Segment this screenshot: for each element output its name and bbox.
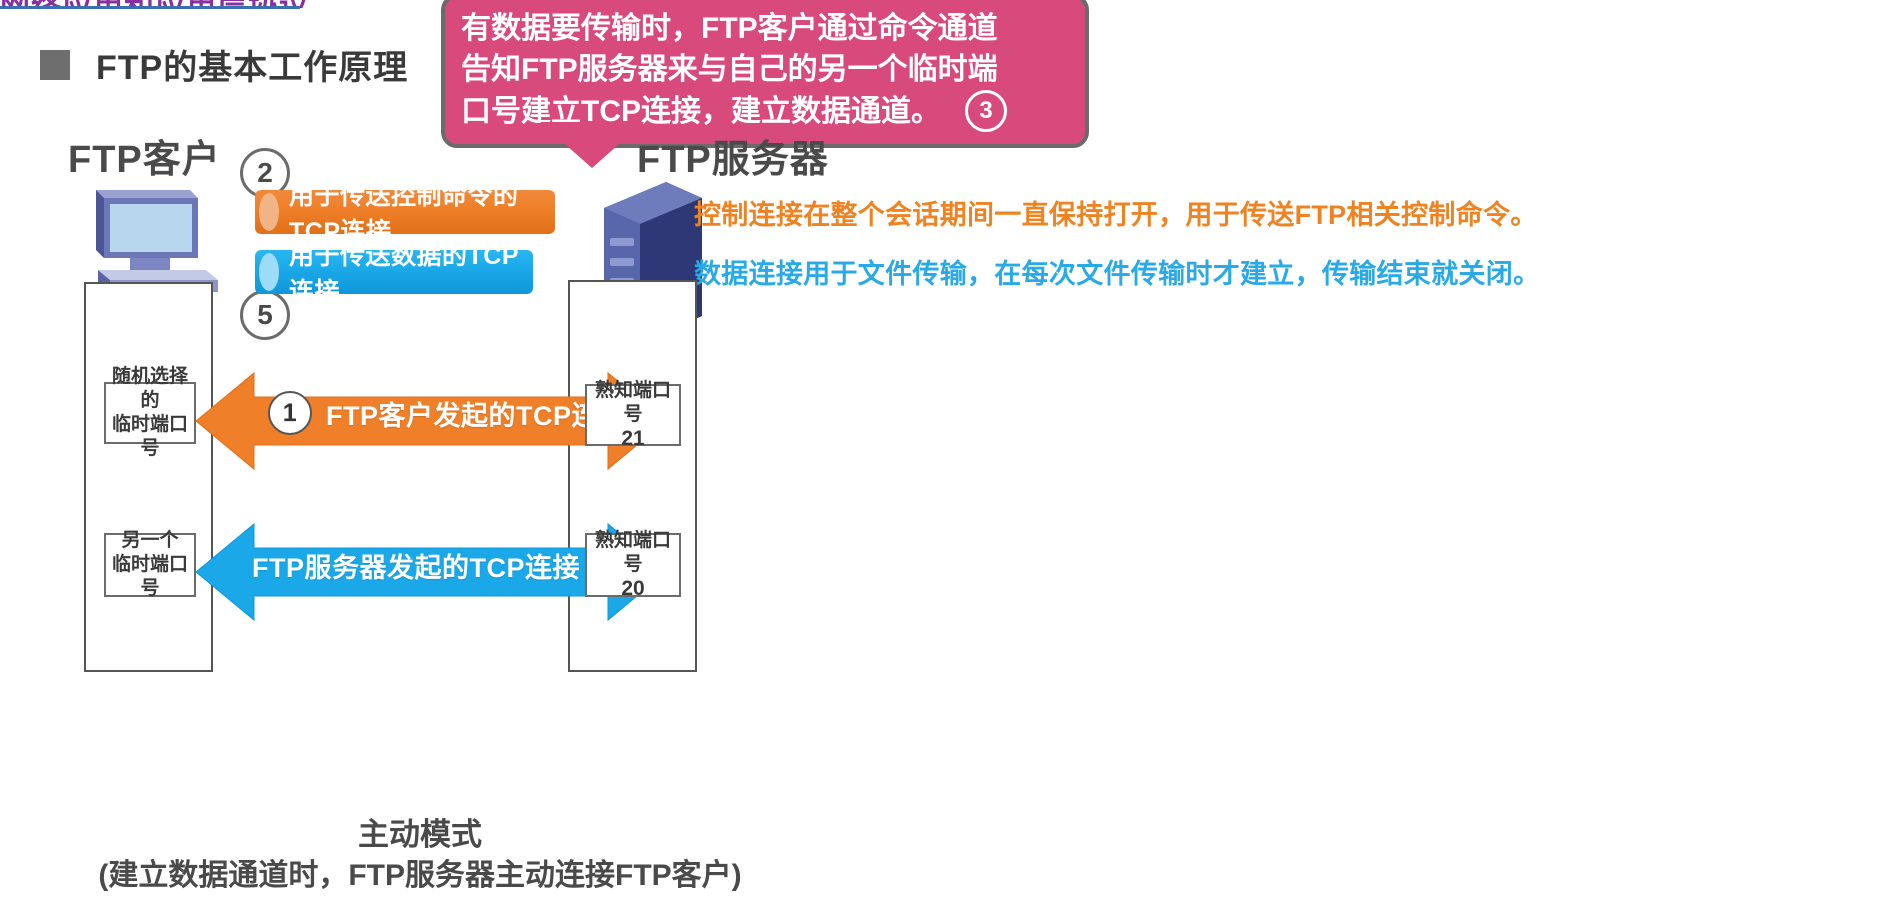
callout-line-1: 有数据要传输时，FTP客户通过命令通道 (461, 8, 1069, 49)
callout-step-badge: 3 (965, 90, 1007, 132)
client-title: FTP客户 (68, 128, 221, 183)
callout-line-2: 告知FTP服务器来与自己的另一个临时端 (461, 49, 1069, 90)
section-heading: FTP的基本工作原理 (40, 40, 408, 89)
top-rule-divider (0, 6, 300, 9)
server-wellknown-port-label: 熟知端口号 (587, 379, 679, 427)
mode-caption: 主动模式 (建立数据通道时，FTP服务器主动连接FTP客户) (0, 815, 840, 897)
mode-caption-subtitle: (建立数据通道时，FTP服务器主动连接FTP客户) (0, 855, 840, 897)
client-ephemeral-port-2-line-2: 临时端口号 (106, 553, 194, 601)
callout-bubble: 有数据要传输时，FTP客户通过命令通道 告知FTP服务器来与自己的另一个临时端 … (441, 0, 1089, 148)
control-connection-note: 控制连接在整个会话期间一直保持打开，用于传送FTP相关控制命令。 (694, 193, 1538, 232)
client-ephemeral-port-box-1: 随机选择的 临时端口号 (104, 382, 196, 444)
server-wellknown-port-box-20: 熟知端口号 20 (585, 533, 681, 597)
step-badge-5: 5 (240, 290, 290, 340)
client-lifeline (84, 282, 213, 672)
callout-tail (540, 122, 644, 168)
pipe-cap-icon (259, 253, 279, 291)
section-heading-label: FTP的基本工作原理 (96, 40, 408, 89)
callout-line-3: 口号建立TCP连接，建立数据通道。 (461, 91, 941, 132)
server-wellknown-port-box-21: 熟知端口号 21 (585, 384, 681, 446)
data-connection-pipe-label: 用于传送数据的TCP连接 (289, 236, 533, 308)
client-ephemeral-port-box-2: 另一个 临时端口号 (104, 533, 196, 597)
client-ephemeral-port-line-1: 随机选择的 (106, 365, 194, 413)
server-wellknown-port-2-label: 熟知端口号 (587, 529, 679, 577)
data-connection-pipe: 用于传送数据的TCP连接 (255, 250, 533, 294)
data-connection-note: 数据连接用于文件传输，在每次文件传输时才建立，传输结束就关闭。 (694, 252, 1540, 291)
client-ephemeral-port-line-2: 临时端口号 (106, 413, 194, 461)
control-connection-pipe: 用于传送控制命令的TCP连接 (255, 190, 555, 234)
client-initiated-tcp-arrow-label-row: 1 FTP客户发起的TCP连接 (268, 391, 627, 435)
arrow-step-badge-1: 1 (268, 391, 312, 435)
server-wellknown-port-number: 21 (621, 427, 644, 451)
mode-caption-title: 主动模式 (0, 815, 840, 855)
server-initiated-tcp-arrow-label: FTP服务器发起的TCP连接 (252, 546, 580, 585)
pipe-cap-icon (259, 193, 279, 231)
client-initiated-tcp-arrow-label: FTP客户发起的TCP连接 (326, 394, 627, 433)
server-wellknown-port-2-number: 20 (621, 577, 644, 601)
square-bullet-icon (40, 50, 70, 80)
client-ephemeral-port-2-line-1: 另一个 (121, 529, 178, 553)
server-title: FTP服务器 (637, 128, 829, 183)
server-initiated-tcp-arrow-label-row: FTP服务器发起的TCP连接 4 (252, 543, 638, 587)
